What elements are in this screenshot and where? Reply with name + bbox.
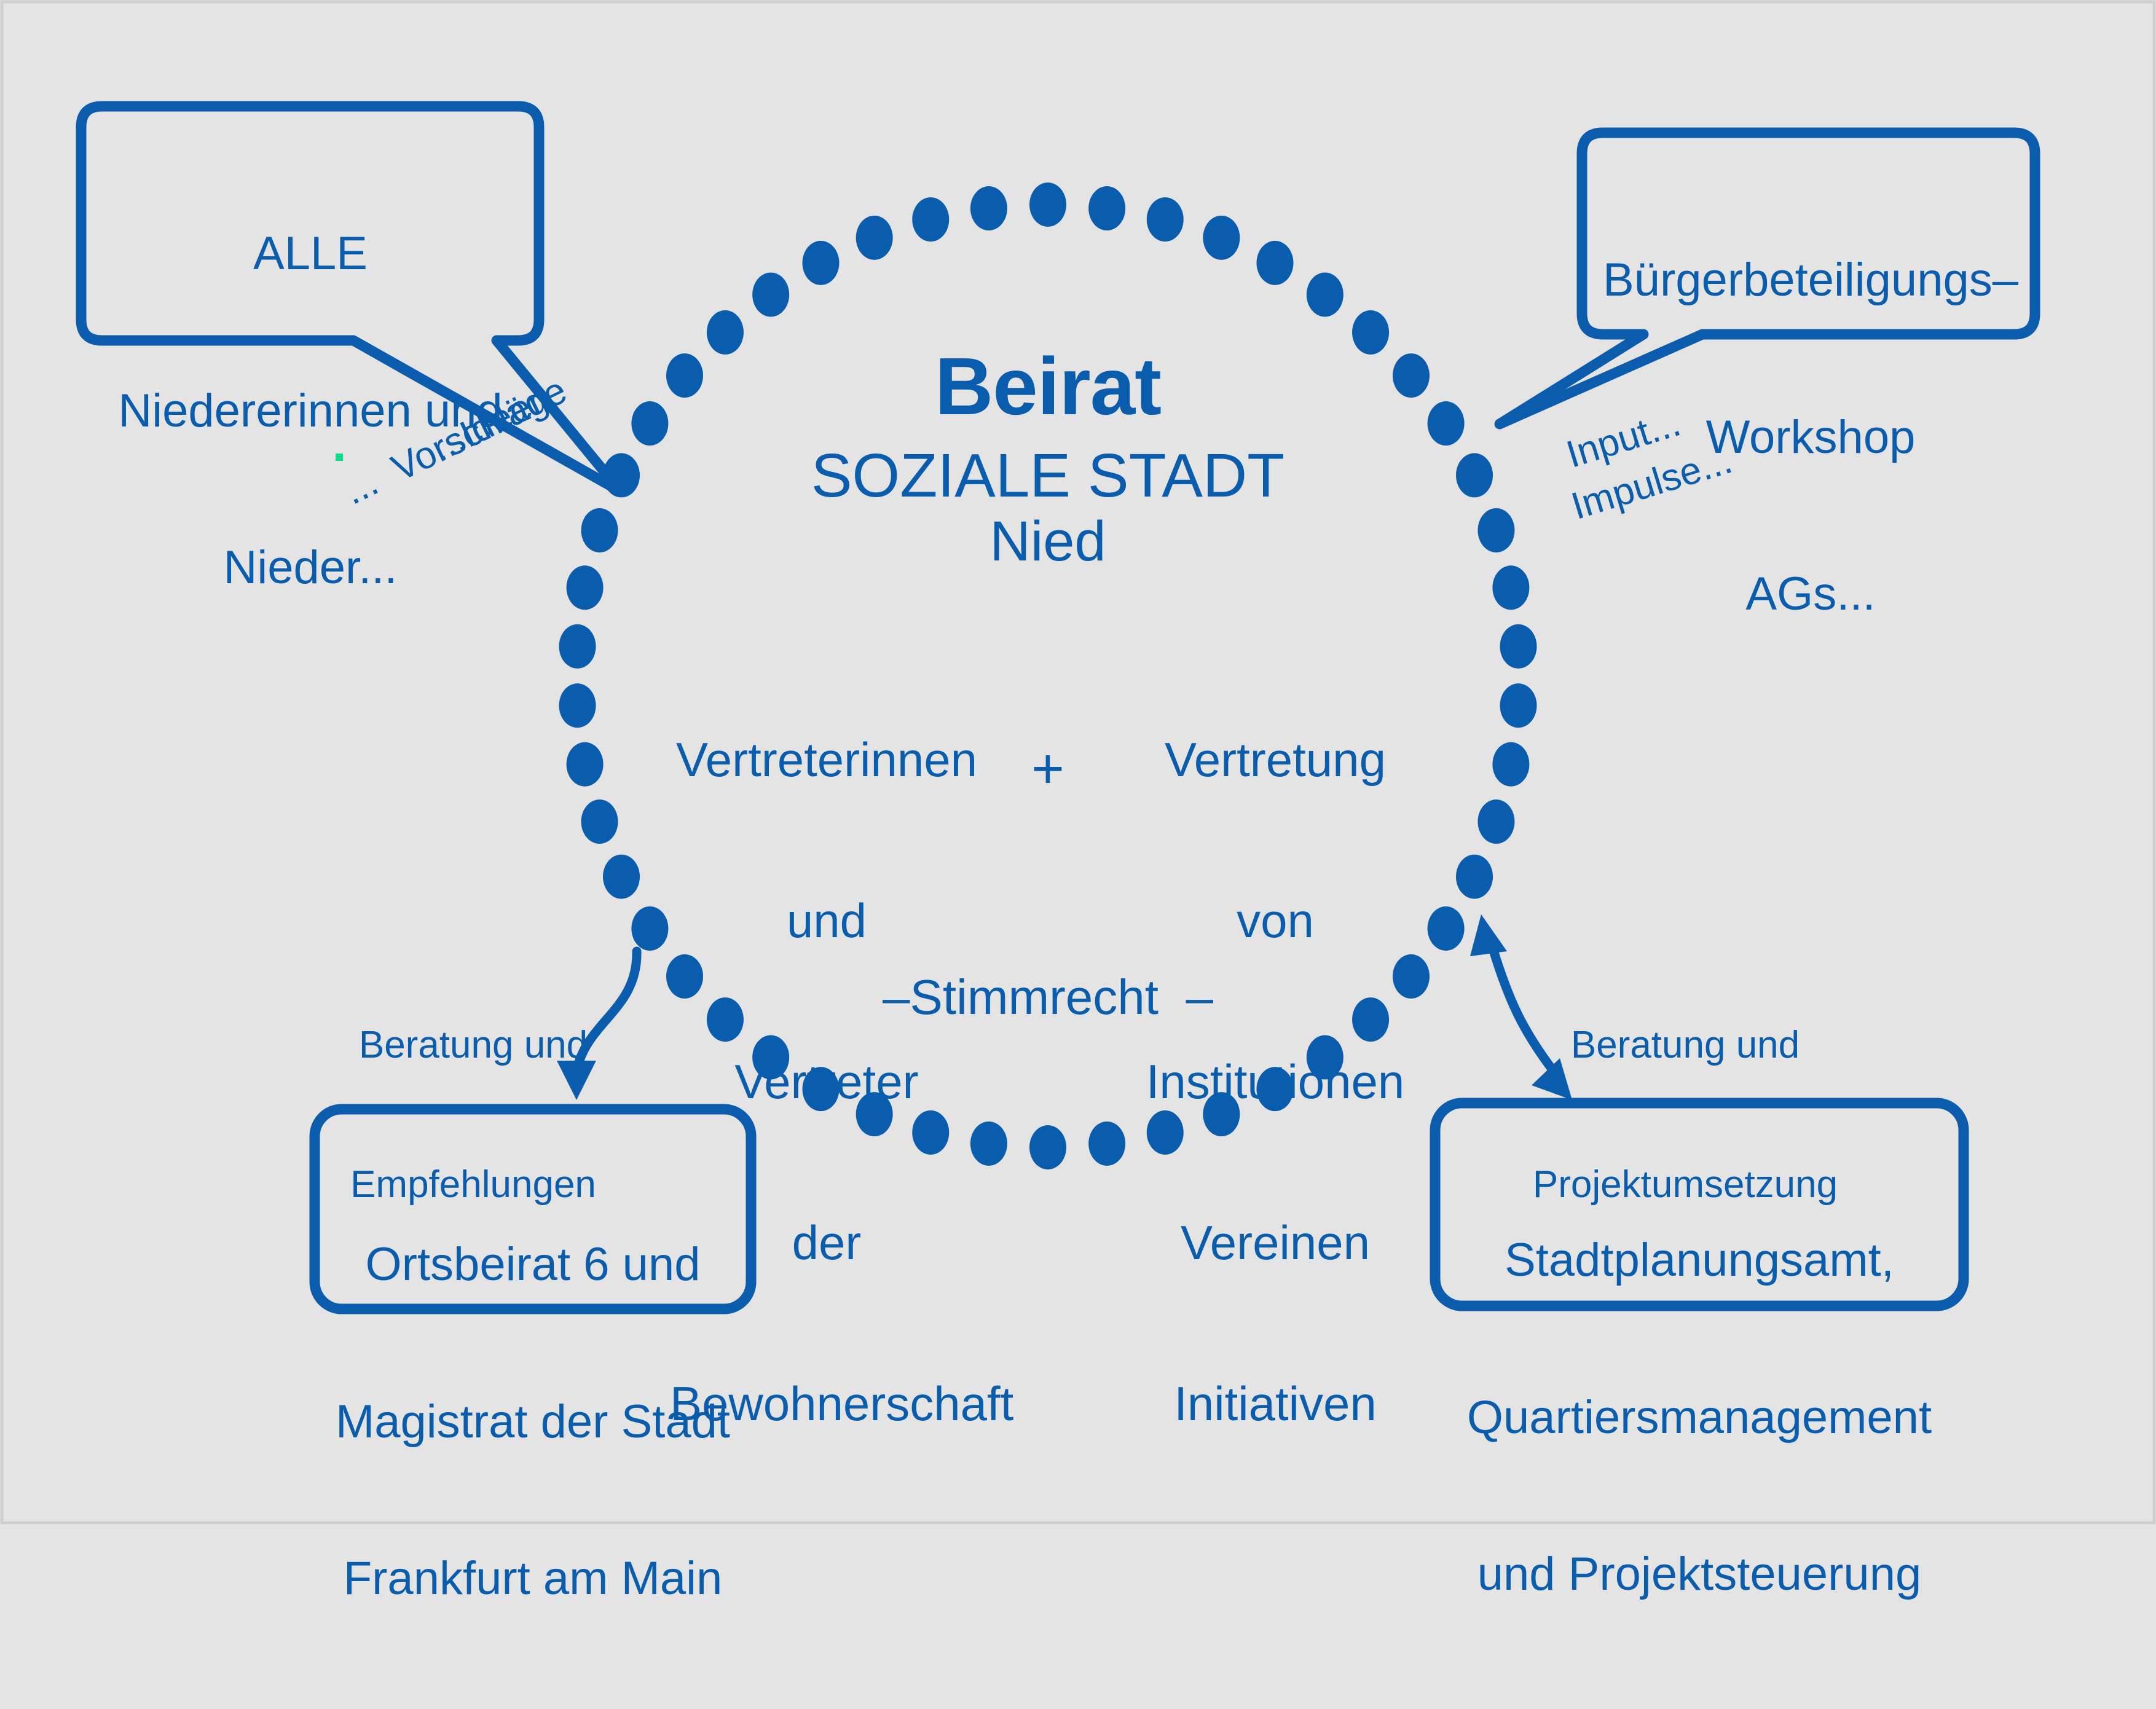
circle-dot [1492,742,1529,787]
circle-dot [567,565,604,610]
circle-dot [1500,624,1536,669]
circle-dot [666,353,703,398]
circle-dot [752,272,789,316]
circle-dot [1456,855,1493,899]
page-title: Beirat [741,341,1355,432]
circle-dot [1203,216,1240,260]
circle-dot [1257,241,1294,285]
circle-dot [631,401,668,446]
box-bl-line-2: Magistrat der Stadt [321,1396,745,1448]
diagram-canvas: ALLE Niedererinnen und Nieder... Bürgerb… [0,0,2156,1525]
circle-dot [1393,353,1430,398]
members-right-column: Vertretung von Institutionen Vereinen In… [1119,626,1432,1538]
circle-dot [970,186,1007,230]
circle-dot [1477,508,1514,552]
circle-dot [631,906,668,951]
box-bl-line-3: Frankfurt am Main [321,1552,745,1605]
circle-dot [1500,683,1536,728]
members-right-line-4: Vereinen [1119,1216,1432,1270]
box-ortsbeirat-text: Ortsbeirat 6 und Magistrat der Stadt Fra… [321,1134,745,1709]
circle-dot [1456,453,1493,497]
box-stadtplanungsamt-text: Stadtplanungsamt, Quartiersmanagement un… [1441,1130,1957,1705]
box-bl-line-1: Ortsbeirat 6 und [321,1238,745,1291]
speech-bubble-left-text: ALLE Niedererinnen und Nieder... [98,123,522,698]
page-subtitle-line-1: SOZIALE STADT [741,441,1355,510]
circle-dot [581,799,618,844]
circle-dot [559,683,596,728]
members-left-line-1: Vertreterinnen [670,733,983,787]
circle-dot [1477,799,1514,844]
circle-dot [912,197,949,242]
members-left-line-3: Vertreter [670,1055,983,1109]
voting-rights-label: –Stimmrecht – [802,970,1294,1025]
circle-dot [1428,401,1465,446]
members-left-line-2: und [670,894,983,948]
box-br-line-1: Stadtplanungsamt, [1441,1234,1957,1286]
circle-dot [1029,183,1066,227]
circle-dot [567,742,604,787]
members-right-line-1: Vertretung [1119,733,1432,787]
circle-dot [603,855,640,899]
bubble-right-line-3: AGs... [1595,568,2026,620]
annotation-bl-line-1: Beratung und [332,1022,615,1069]
bubble-right-line-1: Bürgerbeteiligungs– [1595,254,2026,306]
circle-dot [1492,565,1529,610]
circle-dot [1352,310,1389,355]
box-br-line-2: Quartiersmanagement [1441,1391,1957,1444]
members-plus-operator: + [1011,737,1085,801]
circle-dot [1147,197,1184,242]
circle-dot [856,216,893,260]
page-subtitle-line-2: Nied [741,510,1355,573]
circle-dot [559,624,596,669]
box-br-line-3: und Projektsteuerung [1441,1548,1957,1600]
circle-dot [707,310,744,355]
circle-dot [1428,906,1465,951]
members-right-line-2: von [1119,894,1432,948]
circle-dot [1088,186,1125,230]
members-right-line-3: Institutionen [1119,1055,1432,1109]
members-right-line-5: Initiativen [1119,1377,1432,1431]
circle-dot [581,508,618,552]
circle-dot [1029,1125,1066,1169]
circle-dot [1307,272,1344,316]
green-marker-dot [336,454,343,461]
circle-dot [802,241,839,285]
annotation-br-line-1: Beratung und [1532,1022,1839,1069]
bubble-left-line-1: ALLE [98,227,522,280]
bubble-left-line-3: Nieder... [98,541,522,594]
